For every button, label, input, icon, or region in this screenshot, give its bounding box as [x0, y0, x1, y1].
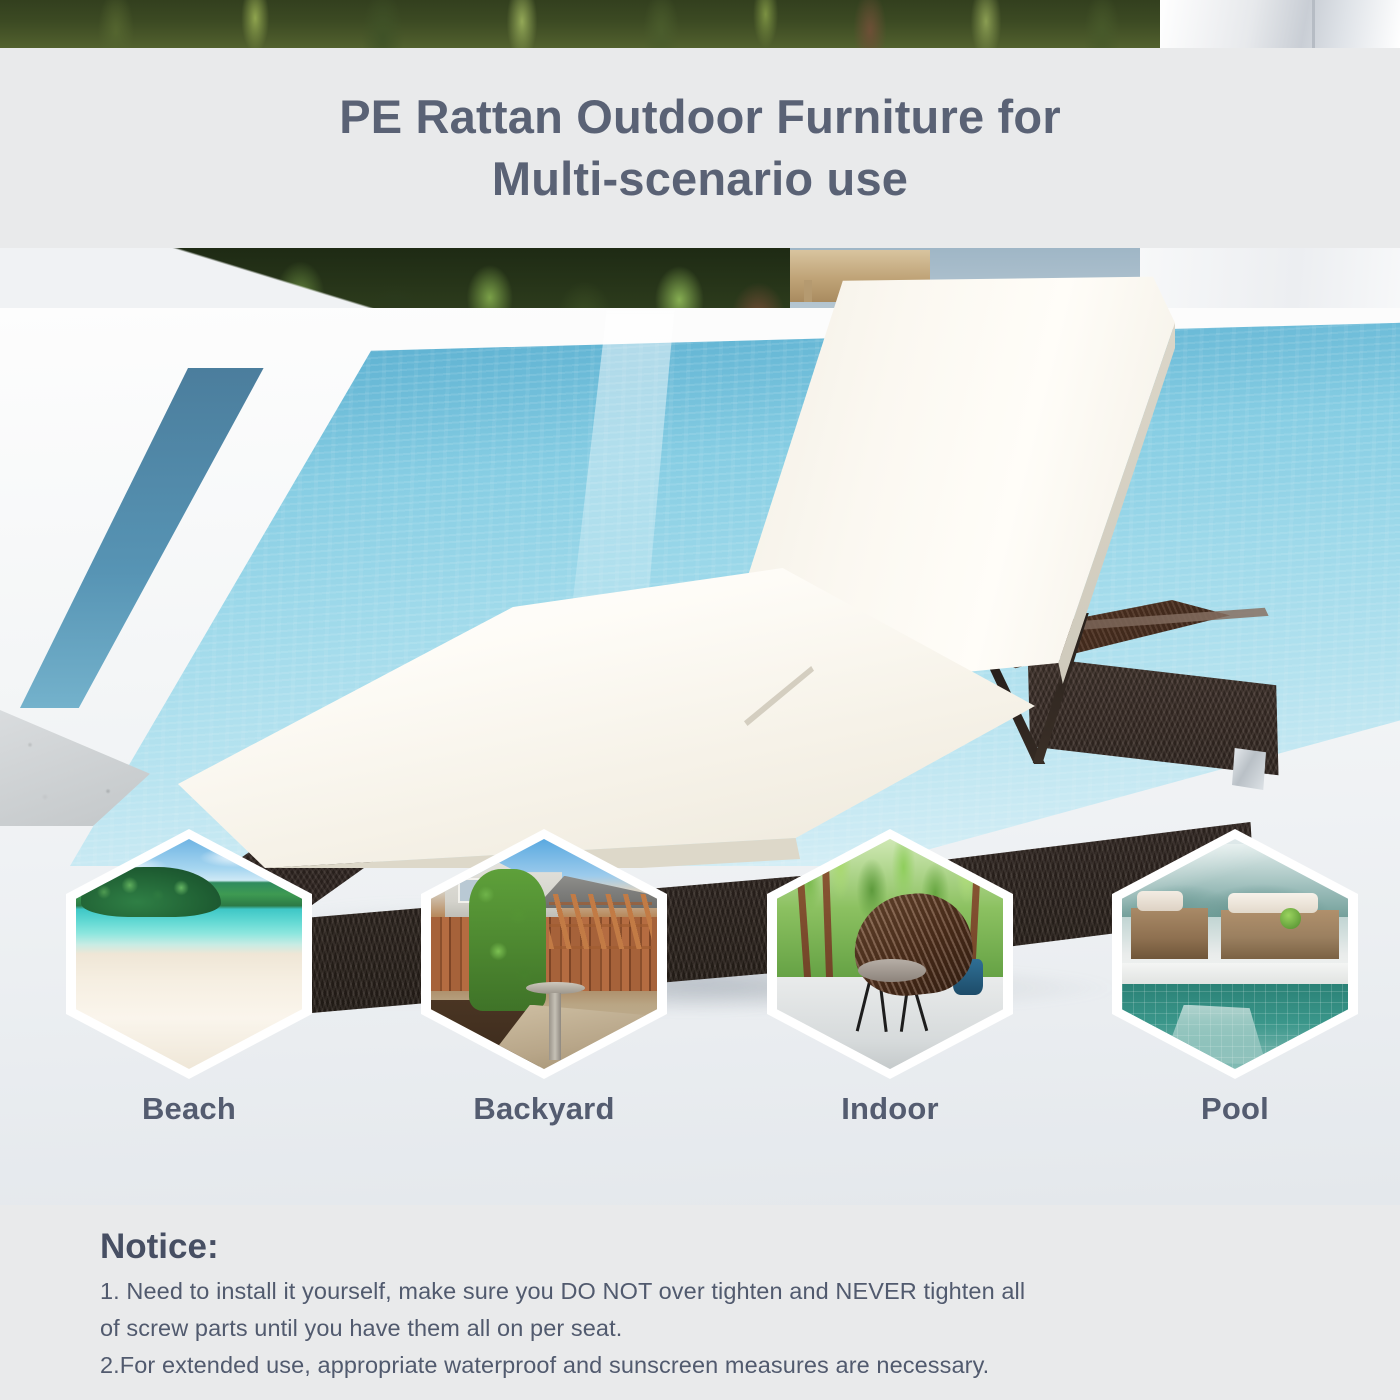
page-title: PE Rattan Outdoor Furniture for Multi-sc…: [339, 86, 1061, 210]
notice-line-2: of screw parts until you have them all o…: [100, 1310, 1300, 1347]
notice-line-1: 1. Need to install it yourself, make sur…: [100, 1273, 1300, 1310]
scene-label-pool: Pool: [1112, 1091, 1358, 1127]
tropical-foliage-icon: [0, 0, 1160, 48]
garden-table-icon: [526, 982, 585, 1060]
rattan-armchair-icon: [1131, 908, 1208, 959]
chrome-foot-icon: [1232, 748, 1266, 790]
product-infographic-page: PE Rattan Outdoor Furniture for Multi-sc…: [0, 0, 1400, 1400]
notice-band: Notice: 1. Need to install it yourself, …: [0, 1205, 1400, 1400]
building-wall-strip: [1160, 0, 1400, 48]
notice-line-3: 2.For extended use, appropriate waterpro…: [100, 1347, 1300, 1384]
top-photo-strip: [0, 0, 1400, 48]
scene-card-pool[interactable]: Pool: [1112, 829, 1358, 1079]
scene-label-beach: Beach: [66, 1091, 312, 1127]
header-band: PE Rattan Outdoor Furniture for Multi-sc…: [0, 48, 1400, 248]
scene-card-backyard[interactable]: Backyard: [421, 829, 667, 1079]
potted-plant-icon: [1280, 908, 1300, 929]
scene-card-beach[interactable]: Beach: [66, 829, 312, 1079]
notice-title: Notice:: [100, 1227, 1300, 1267]
scene-label-indoor: Indoor: [767, 1091, 1013, 1127]
pergola-icon: [549, 894, 653, 949]
scene-label-backyard: Backyard: [421, 1091, 667, 1127]
scene-card-indoor[interactable]: Indoor: [767, 829, 1013, 1079]
chair-seat-cushion: [858, 959, 926, 982]
pool-coping: [1122, 963, 1348, 986]
sand-texture: [76, 968, 302, 1069]
